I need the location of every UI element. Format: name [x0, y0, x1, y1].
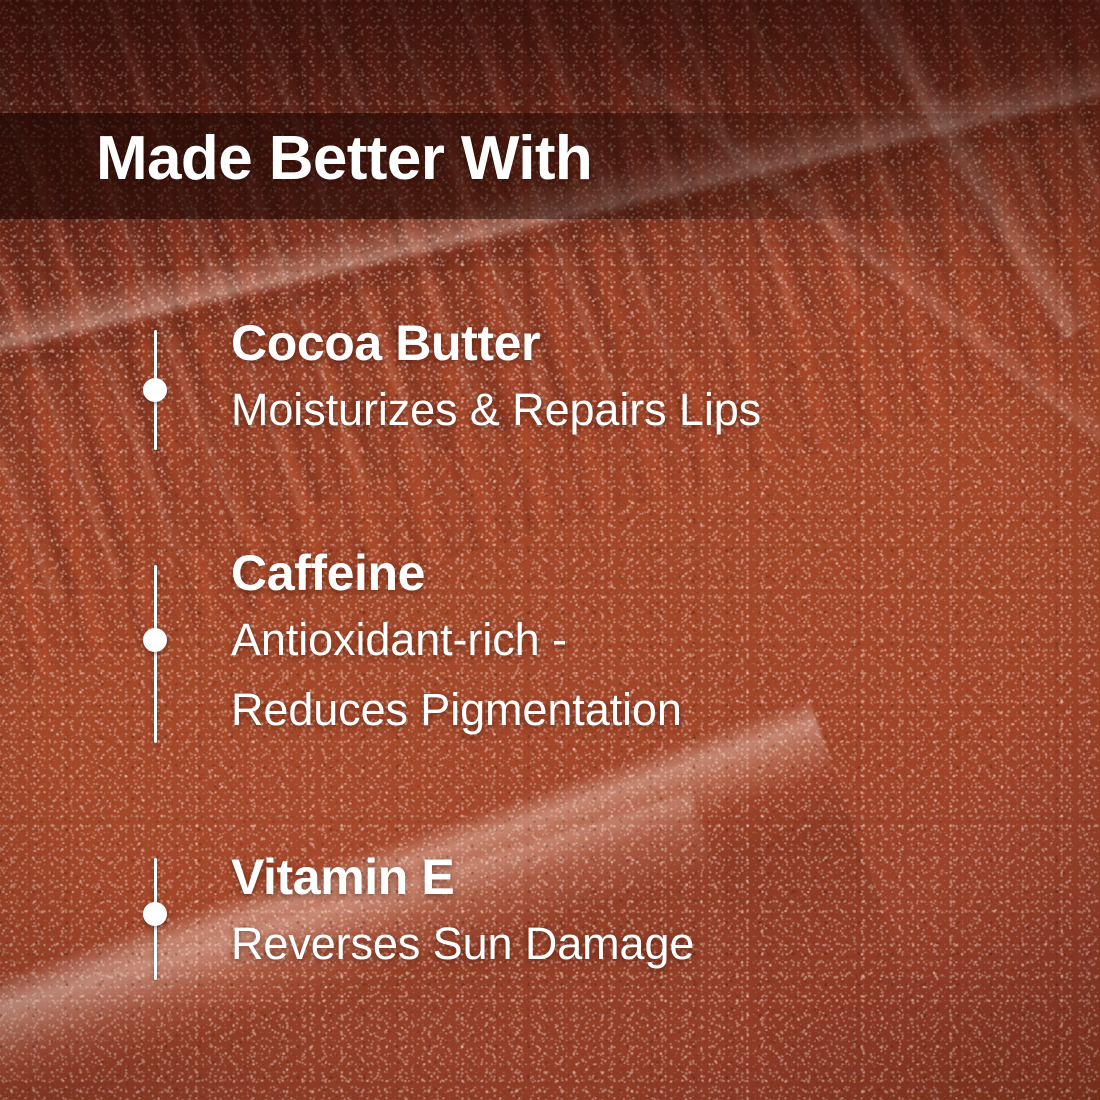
ingredient-text-group: Cocoa Butter Moisturizes & Repairs Lips: [231, 318, 761, 439]
product-ingredient-infographic: Made Better With Cocoa Butter Moisturize…: [0, 0, 1100, 1100]
ingredient-description-line: Antioxidant-rich -: [231, 612, 682, 669]
bullet-dot-icon: [143, 378, 167, 402]
timeline-rail: [154, 565, 157, 743]
ingredient-description-line: Reverses Sun Damage: [231, 916, 694, 973]
bullet-dot-icon: [143, 628, 167, 652]
ingredient-name: Caffeine: [231, 548, 682, 599]
ingredient-description-line: Reduces Pigmentation: [231, 682, 682, 739]
bullet-dot-icon: [143, 902, 167, 926]
ingredient-name: Vitamin E: [231, 852, 694, 903]
ingredient-text-group: Caffeine Antioxidant-rich - Reduces Pigm…: [231, 548, 682, 738]
ingredient-name: Cocoa Butter: [231, 318, 761, 369]
page-title: Made Better With: [96, 128, 592, 190]
ingredient-text-group: Vitamin E Reverses Sun Damage: [231, 852, 694, 973]
timeline-marker: [143, 565, 167, 743]
ingredient-description-line: Moisturizes & Repairs Lips: [231, 382, 761, 439]
timeline-marker: [143, 858, 167, 980]
timeline-marker: [143, 330, 167, 450]
